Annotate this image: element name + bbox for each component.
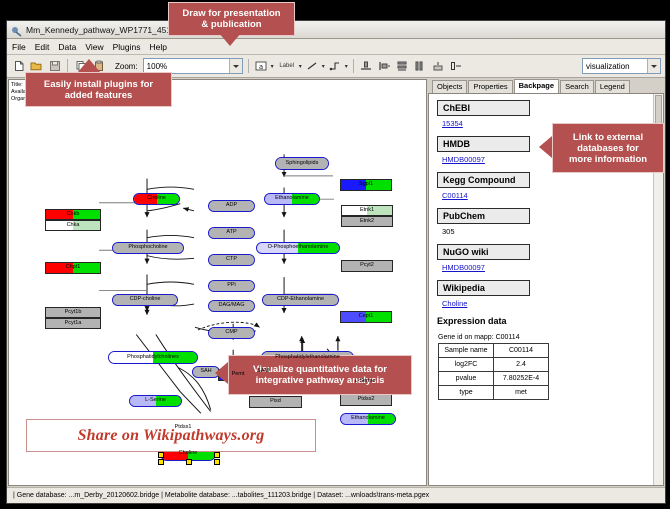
callout-draw-line2: & publication bbox=[201, 19, 261, 30]
metabolite-atp[interactable]: ATP bbox=[208, 227, 255, 239]
db-title-pubchem: PubChem bbox=[437, 208, 530, 224]
menu-edit[interactable]: Edit bbox=[35, 42, 50, 52]
gene-pcyt1b[interactable]: Pcyt1b bbox=[45, 307, 101, 318]
gene-chka[interactable]: Chka bbox=[45, 220, 101, 231]
callout-link: Link to external databases for more info… bbox=[552, 123, 664, 173]
metabolite-phosphocholine[interactable]: Phosphocholine bbox=[112, 242, 184, 254]
node-label: ADP bbox=[226, 203, 237, 209]
node-label: CTP bbox=[226, 257, 237, 263]
metabolite-cmp[interactable]: CMP bbox=[208, 327, 255, 339]
expression-row-name: Sample name bbox=[439, 344, 494, 358]
expression-row-name: pvalue bbox=[439, 372, 494, 386]
title-bar: Mm_Kennedy_pathway_WP1771_45176.gpml bbox=[7, 21, 665, 39]
node-label: L-Serine bbox=[145, 398, 166, 404]
db-link-kegg-compound[interactable]: C00114 bbox=[442, 191, 663, 200]
metabolite-phosphatidylcholines[interactable]: Phosphatidylcholines bbox=[108, 351, 198, 364]
node-label: Ptdss1 bbox=[175, 425, 192, 431]
screenshot-root: Mm_Kennedy_pathway_WP1771_45176.gpml Fil… bbox=[0, 0, 670, 509]
metabolite-ethanolamine-right[interactable]: Ethanolamine bbox=[340, 413, 396, 425]
expression-row-name: type bbox=[439, 386, 494, 400]
node-label: Choline bbox=[179, 451, 198, 457]
node-label: ATP bbox=[226, 230, 236, 236]
metabolite-choline-top[interactable]: Choline bbox=[133, 193, 180, 205]
callout-draw-line1: Draw for presentation bbox=[182, 8, 280, 19]
menu-plugins[interactable]: Plugins bbox=[113, 42, 141, 52]
metabolite-cdp-choline[interactable]: CDP-choline bbox=[112, 294, 178, 306]
node-label: Chpt1 bbox=[66, 265, 81, 271]
chevron-down-icon[interactable] bbox=[229, 59, 242, 73]
svg-text:a: a bbox=[259, 63, 263, 71]
node-label: Ethanolamine bbox=[275, 196, 309, 202]
tab-properties[interactable]: Properties bbox=[468, 80, 512, 93]
tab-backpage[interactable]: Backpage bbox=[514, 79, 559, 93]
gene-id-label: Gene id on mapp: C00114 bbox=[438, 334, 663, 341]
menu-file[interactable]: File bbox=[12, 42, 26, 52]
gene-etnk2[interactable]: Etnk2 bbox=[341, 216, 393, 227]
zoom-label: Zoom: bbox=[115, 62, 138, 71]
gene-ptdss2[interactable]: Ptdss2 bbox=[340, 394, 392, 406]
menu-view[interactable]: View bbox=[85, 42, 103, 52]
line-tool-icon[interactable] bbox=[305, 59, 320, 74]
table-row: log2FC2.4 bbox=[439, 358, 549, 372]
gene-pcyt2[interactable]: Pcyt2 bbox=[341, 260, 393, 272]
distribute-vertical-icon[interactable] bbox=[395, 59, 410, 74]
node-label: Phosphatidylethanolamine bbox=[275, 355, 340, 361]
visualization-value: visualization bbox=[586, 62, 630, 71]
callout-share-text: Share on Wikipathways.org bbox=[78, 427, 265, 445]
expression-row-name: log2FC bbox=[439, 358, 494, 372]
callout-visualize: Visualize quantitative data for integrat… bbox=[228, 355, 412, 395]
callout-plugins-line2: added features bbox=[65, 90, 133, 101]
node-label: Pisd bbox=[270, 399, 281, 405]
table-row: Sample nameC00114 bbox=[439, 344, 549, 358]
distribute-horizontal-icon[interactable] bbox=[413, 59, 428, 74]
callout-visualize-line1: Visualize quantitative data for bbox=[253, 364, 387, 375]
text-tool-icon[interactable]: a bbox=[254, 59, 269, 74]
callout-plugins: Easily install plugins for added feature… bbox=[25, 72, 172, 107]
node-label: L-Serine bbox=[355, 379, 376, 385]
gene-pcyt1a[interactable]: Pcyt1a bbox=[45, 318, 101, 329]
menu-data[interactable]: Data bbox=[58, 42, 76, 52]
expression-row-value: met bbox=[494, 386, 549, 400]
toolbar-separator bbox=[248, 59, 249, 73]
menu-bar: File Edit Data View Plugins Help bbox=[7, 39, 665, 55]
metabolite-ethanolamine-top[interactable]: Ethanolamine bbox=[264, 193, 320, 205]
node-label: Etnk1 bbox=[360, 208, 374, 214]
metabolite-cdp-ethanolamine[interactable]: CDP-Ethanolamine bbox=[262, 294, 339, 306]
tab-search[interactable]: Search bbox=[560, 80, 594, 93]
expression-table: Sample nameC00114log2FC2.4pvalue7.80252E… bbox=[438, 343, 549, 400]
align-left-icon[interactable] bbox=[377, 59, 392, 74]
db-link-nugo-wiki[interactable]: HMDB00097 bbox=[442, 263, 663, 272]
node-label: Etnk2 bbox=[360, 219, 374, 225]
metabolite-ctp[interactable]: CTP bbox=[208, 254, 255, 266]
table-row: typemet bbox=[439, 386, 549, 400]
callout-link-line2: databases for bbox=[577, 143, 639, 154]
node-label: Sgpl1 bbox=[359, 182, 373, 188]
chevron-down-icon[interactable]: ▾ bbox=[345, 63, 348, 70]
node-label: CDP-Ethanolamine bbox=[277, 297, 324, 303]
metabolite-ppi[interactable]: PPi bbox=[208, 280, 255, 292]
group-icon[interactable] bbox=[449, 59, 464, 74]
db-title-nugo-wiki: NuGO wiki bbox=[437, 244, 530, 260]
node-label: PPi bbox=[227, 283, 236, 289]
node-label: Phosphatidylcholines bbox=[127, 355, 179, 361]
callout-share: Share on Wikipathways.org bbox=[26, 419, 316, 452]
node-label: DAG/MAG bbox=[219, 303, 245, 309]
gene-cept1[interactable]: Cept1 bbox=[340, 311, 392, 323]
chevron-down-icon[interactable] bbox=[647, 59, 660, 73]
metabolite-adp[interactable]: ADP bbox=[208, 200, 255, 212]
node-label: Phosphocholine bbox=[128, 245, 167, 251]
table-row: pvalue7.80252E-4 bbox=[439, 372, 549, 386]
expression-row-value: 7.80252E-4 bbox=[494, 372, 549, 386]
node-label: O-Phosphoethanolamine bbox=[268, 245, 329, 251]
visualization-combo[interactable]: visualization bbox=[582, 58, 661, 74]
side-tab-strip: Objects Properties Backpage Search Legen… bbox=[428, 79, 664, 93]
chevron-down-icon[interactable]: ▾ bbox=[322, 63, 325, 70]
node-label: Chkb bbox=[67, 212, 80, 218]
db-title-kegg-compound: Kegg Compound bbox=[437, 172, 530, 188]
callout-link-line1: Link to external bbox=[573, 132, 643, 143]
gene-pisd[interactable]: Pisd bbox=[249, 396, 302, 408]
toolbar-separator bbox=[67, 59, 68, 73]
node-label: Pemt bbox=[232, 372, 245, 378]
menu-help[interactable]: Help bbox=[150, 42, 167, 52]
callout-visualize-arrow-icon bbox=[215, 362, 228, 384]
metabolite-dagmag[interactable]: DAG/MAG bbox=[208, 300, 255, 312]
node-label: Cept1 bbox=[359, 314, 374, 320]
node-label: Chka bbox=[67, 223, 80, 229]
gene-chkb[interactable]: Chkb bbox=[45, 209, 101, 220]
node-label: Ptdss2 bbox=[358, 397, 375, 403]
metabolite-l-serine-left[interactable]: L-Serine bbox=[129, 395, 182, 407]
expression-row-value: C00114 bbox=[494, 344, 549, 358]
chevron-down-icon[interactable]: ▾ bbox=[299, 63, 302, 70]
pathvisio-icon bbox=[11, 24, 22, 35]
node-label: Pcyt1a bbox=[65, 321, 82, 327]
callout-link-line3: more information bbox=[569, 154, 647, 165]
node-label: Ethanolamine bbox=[351, 416, 385, 422]
stack-icon[interactable] bbox=[431, 59, 446, 74]
node-label: Pcyt1b bbox=[65, 310, 82, 316]
metabolite-sphingolipids[interactable]: Sphingolipids bbox=[275, 157, 329, 170]
label-tool-icon[interactable]: Label bbox=[277, 59, 297, 74]
connector-tool-icon[interactable] bbox=[328, 59, 343, 74]
db-title-wikipedia: Wikipedia bbox=[437, 280, 530, 296]
align-top-icon[interactable] bbox=[359, 59, 374, 74]
db-link-wikipedia[interactable]: Choline bbox=[442, 299, 663, 308]
tab-objects[interactable]: Objects bbox=[432, 80, 467, 93]
status-text: | Gene database: ...m_Derby_20120602.bri… bbox=[13, 492, 429, 499]
callout-plugins-arrow-icon bbox=[78, 59, 100, 72]
node-label: Sphingolipids bbox=[286, 161, 319, 167]
tab-legend[interactable]: Legend bbox=[595, 80, 630, 93]
node-label: CMP bbox=[225, 330, 237, 336]
node-label: Choline bbox=[147, 196, 166, 202]
node-label: CDP-choline bbox=[130, 297, 161, 303]
callout-draw: Draw for presentation & publication bbox=[168, 2, 295, 36]
node-label: Pcyt2 bbox=[360, 263, 374, 269]
expression-heading: Expression data bbox=[437, 316, 663, 326]
callout-draw-arrow-icon bbox=[219, 33, 241, 46]
gene-sgpl1[interactable]: Sgpl1 bbox=[340, 179, 392, 191]
chevron-down-icon[interactable]: ▾ bbox=[271, 63, 274, 70]
new-file-icon[interactable] bbox=[11, 59, 26, 74]
zoom-value: 100% bbox=[147, 62, 167, 71]
node-label: SAM bbox=[257, 369, 269, 375]
db-title-hmdb: HMDB bbox=[437, 136, 530, 152]
gene-etnk1[interactable]: Etnk1 bbox=[341, 205, 393, 216]
expression-row-value: 2.4 bbox=[494, 358, 549, 372]
metabolite-o-phosphoethanolamine[interactable]: O-Phosphoethanolamine bbox=[256, 242, 340, 254]
status-bar: | Gene database: ...m_Derby_20120602.bri… bbox=[7, 487, 665, 503]
db-title-chebi: ChEBI bbox=[437, 100, 530, 116]
callout-plugins-line1: Easily install plugins for bbox=[44, 79, 153, 90]
node-label: SAH bbox=[200, 369, 211, 375]
db-value-pubchem: 305 bbox=[442, 227, 663, 236]
callout-link-arrow-icon bbox=[539, 136, 552, 158]
toolbar-separator bbox=[353, 59, 354, 73]
gene-chpt1[interactable]: Chpt1 bbox=[45, 262, 101, 274]
